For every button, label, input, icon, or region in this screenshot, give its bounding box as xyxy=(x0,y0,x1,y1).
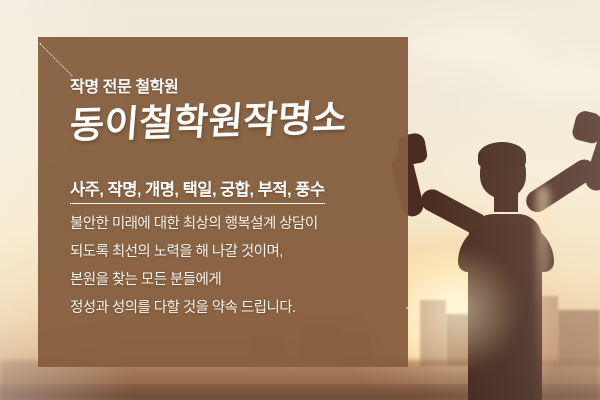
body-line: 불안한 미래에 대한 최상의 행복설계 상담이 xyxy=(70,214,390,235)
body-line: 본원을 찾는 모든 분들에게 xyxy=(70,270,390,291)
copy-panel: 작명 전문 철학원 동이철학원작명소 사주, 작명, 개명, 택일, 궁합, 부… xyxy=(38,37,408,367)
body-line: 되도록 최선의 노력을 해 나갈 것이며, xyxy=(70,242,390,263)
man-silhouette xyxy=(396,96,600,400)
right-fist xyxy=(571,109,600,145)
eyebrow-text: 작명 전문 철학원 xyxy=(70,73,390,97)
banner-stage: 작명 전문 철학원 동이철학원작명소 사주, 작명, 개명, 택일, 궁합, 부… xyxy=(0,0,600,400)
panel-content: 작명 전문 철학원 동이철학원작명소 사주, 작명, 개명, 택일, 궁합, 부… xyxy=(70,73,390,327)
brand-title: 동이철학원작명소 xyxy=(68,96,392,146)
body-copy: 불안한 미래에 대한 최상의 행복설계 상담이 되도록 최선의 노력을 해 나갈… xyxy=(70,214,390,319)
cloud-wisp xyxy=(400,26,540,66)
services-list: 사주, 작명, 개명, 택일, 궁합, 부적, 풍수 xyxy=(70,176,325,204)
rim-light xyxy=(536,186,550,400)
hair xyxy=(478,142,526,170)
body-line: 정성과 성의를 다할 것을 약속 드립니다. xyxy=(70,298,390,319)
